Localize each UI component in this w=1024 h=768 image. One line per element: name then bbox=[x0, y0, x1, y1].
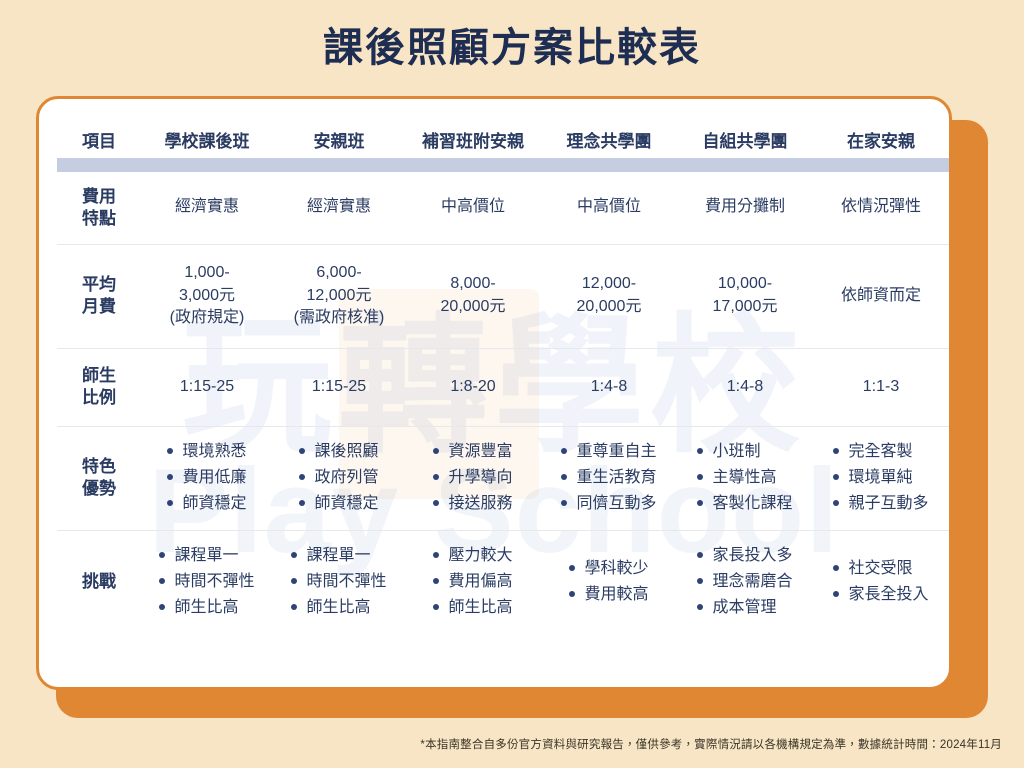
bullet-item: 理念需磨合 bbox=[697, 569, 792, 595]
table-cell: 6,000-12,000元(需政府核准) bbox=[273, 244, 405, 348]
bullet-item: 資源豐富 bbox=[433, 439, 512, 465]
row-header-5: 挑戰 bbox=[57, 530, 141, 634]
cell-line: 17,000元 bbox=[681, 296, 809, 319]
cell-line: 費用分攤制 bbox=[681, 196, 809, 219]
row-header-line: 比例 bbox=[61, 387, 137, 409]
bullet-item: 主導性高 bbox=[697, 465, 792, 491]
comparison-card: 玩轉學校 Play School 項目 學校課後班 安親班 補習班附安親 理念共… bbox=[36, 96, 988, 718]
bullet-list: 社交受限家長全投入 bbox=[833, 556, 928, 608]
table-cell: 中高價位 bbox=[541, 172, 677, 244]
table-cell: 家長投入多理念需磨合成本管理 bbox=[677, 530, 813, 634]
cell-line: 20,000元 bbox=[545, 296, 673, 319]
row-header-2: 平均月費 bbox=[57, 244, 141, 348]
bullet-list: 環境熟悉費用低廉師資穩定 bbox=[167, 439, 246, 517]
table-body: 費用特點經濟實惠經濟實惠中高價位中高價位費用分攤制依情況彈性平均月費1,000-… bbox=[57, 172, 949, 634]
bullet-item: 親子互動多 bbox=[833, 491, 928, 517]
bullet-item: 升學導向 bbox=[433, 465, 512, 491]
bullet-list: 學科較少費用較高 bbox=[569, 556, 648, 608]
cell-line: 依師資而定 bbox=[817, 285, 945, 308]
table-header-underline-cell bbox=[57, 158, 949, 172]
row-header-line: 平均 bbox=[61, 274, 137, 296]
bullet-item: 師生比高 bbox=[159, 595, 254, 621]
bullet-item: 環境熟悉 bbox=[167, 439, 246, 465]
cell-line: 10,000- bbox=[681, 273, 809, 296]
row-header-4: 特色優勢 bbox=[57, 426, 141, 530]
bullet-item: 師資穩定 bbox=[167, 491, 246, 517]
cell-line: 1:15-25 bbox=[277, 376, 401, 399]
bullet-list: 小班制主導性高客製化課程 bbox=[697, 439, 792, 517]
bullet-item: 壓力較大 bbox=[433, 543, 512, 569]
table-cell: 1:4-8 bbox=[677, 348, 813, 426]
table-cell: 環境熟悉費用低廉師資穩定 bbox=[141, 426, 273, 530]
table-cell: 1:8-20 bbox=[405, 348, 541, 426]
table-row: 挑戰課程單一時間不彈性師生比高課程單一時間不彈性師生比高壓力較大費用偏高師生比高… bbox=[57, 530, 949, 634]
cell-line: 12,000- bbox=[545, 273, 673, 296]
page-title: 課後照顧方案比較表 bbox=[0, 0, 1024, 62]
table-cell: 社交受限家長全投入 bbox=[813, 530, 949, 634]
column-header-cram-school: 補習班附安親 bbox=[405, 99, 541, 158]
cell-line: 1:8-20 bbox=[409, 376, 537, 399]
bullet-item: 家長全投入 bbox=[833, 582, 928, 608]
bullet-list: 課程單一時間不彈性師生比高 bbox=[159, 543, 254, 621]
column-header-self-organized-coop: 自組共學團 bbox=[677, 99, 813, 158]
cell-line: 中高價位 bbox=[545, 196, 673, 219]
bullet-list: 資源豐富升學導向接送服務 bbox=[433, 439, 512, 517]
table-cell: 1:4-8 bbox=[541, 348, 677, 426]
table-cell: 1:1-3 bbox=[813, 348, 949, 426]
table-cell: 1:15-25 bbox=[141, 348, 273, 426]
row-header-line: 月費 bbox=[61, 296, 137, 318]
bullet-item: 完全客製 bbox=[833, 439, 928, 465]
table-cell: 依師資而定 bbox=[813, 244, 949, 348]
cell-line: 20,000元 bbox=[409, 296, 537, 319]
table-area: 項目 學校課後班 安親班 補習班附安親 理念共學團 自組共學團 在家安親 bbox=[39, 99, 949, 634]
table-cell: 課程單一時間不彈性師生比高 bbox=[141, 530, 273, 634]
bullet-item: 師資穩定 bbox=[299, 491, 378, 517]
comparison-table: 項目 學校課後班 安親班 補習班附安親 理念共學團 自組共學團 在家安親 bbox=[57, 99, 949, 634]
column-header-concept-coop: 理念共學團 bbox=[541, 99, 677, 158]
bullet-item: 費用偏高 bbox=[433, 569, 512, 595]
cell-line: 3,000元 bbox=[145, 285, 269, 308]
cell-line: 1:1-3 bbox=[817, 376, 945, 399]
cell-line: 6,000- bbox=[277, 262, 401, 285]
bullet-item: 小班制 bbox=[697, 439, 792, 465]
table-cell: 8,000-20,000元 bbox=[405, 244, 541, 348]
column-header-school-afterclass: 學校課後班 bbox=[141, 99, 273, 158]
bullet-item: 費用低廉 bbox=[167, 465, 246, 491]
column-header-anqinban: 安親班 bbox=[273, 99, 405, 158]
table-cell: 依情況彈性 bbox=[813, 172, 949, 244]
cell-line: 1,000- bbox=[145, 262, 269, 285]
table-cell: 10,000-17,000元 bbox=[677, 244, 813, 348]
footnote: *本指南整合自多份官方資料與研究報告，僅供參考，實際情況請以各機構規定為準，數據… bbox=[420, 736, 1002, 752]
table-cell: 資源豐富升學導向接送服務 bbox=[405, 426, 541, 530]
bullet-item: 課程單一 bbox=[159, 543, 254, 569]
bullet-item: 費用較高 bbox=[569, 582, 648, 608]
bullet-item: 師生比高 bbox=[433, 595, 512, 621]
bullet-item: 時間不彈性 bbox=[159, 569, 254, 595]
cell-line: (政府規定) bbox=[145, 307, 269, 330]
cell-line: 經濟實惠 bbox=[145, 196, 269, 219]
bullet-item: 學科較少 bbox=[569, 556, 648, 582]
bullet-list: 重尊重自主重生活教育同儕互動多 bbox=[561, 439, 656, 517]
table-cell: 費用分攤制 bbox=[677, 172, 813, 244]
table-cell: 壓力較大費用偏高師生比高 bbox=[405, 530, 541, 634]
cell-line: 1:4-8 bbox=[545, 376, 673, 399]
bullet-list: 完全客製環境單純親子互動多 bbox=[833, 439, 928, 517]
table-cell: 經濟實惠 bbox=[141, 172, 273, 244]
cell-line: 12,000元 bbox=[277, 285, 401, 308]
cell-line: 依情況彈性 bbox=[817, 196, 945, 219]
table-cell: 課後照顧政府列管師資穩定 bbox=[273, 426, 405, 530]
column-header-home-care: 在家安親 bbox=[813, 99, 949, 158]
table-cell: 課程單一時間不彈性師生比高 bbox=[273, 530, 405, 634]
table-cell: 12,000-20,000元 bbox=[541, 244, 677, 348]
table-header-underline-row bbox=[57, 158, 949, 172]
bullet-list: 壓力較大費用偏高師生比高 bbox=[433, 543, 512, 621]
bullet-list: 課程單一時間不彈性師生比高 bbox=[291, 543, 386, 621]
bullet-item: 師生比高 bbox=[291, 595, 386, 621]
bullet-item: 重生活教育 bbox=[561, 465, 656, 491]
bullet-item: 課程單一 bbox=[291, 543, 386, 569]
cell-line: 1:15-25 bbox=[145, 376, 269, 399]
table-cell: 經濟實惠 bbox=[273, 172, 405, 244]
row-header-line: 師生 bbox=[61, 365, 137, 387]
table-cell: 完全客製環境單純親子互動多 bbox=[813, 426, 949, 530]
row-header-3: 師生比例 bbox=[57, 348, 141, 426]
table-row: 費用特點經濟實惠經濟實惠中高價位中高價位費用分攤制依情況彈性 bbox=[57, 172, 949, 244]
table-row: 特色優勢環境熟悉費用低廉師資穩定課後照顧政府列管師資穩定資源豐富升學導向接送服務… bbox=[57, 426, 949, 530]
bullet-item: 社交受限 bbox=[833, 556, 928, 582]
bullet-item: 客製化課程 bbox=[697, 491, 792, 517]
table-row: 平均月費1,000-3,000元(政府規定)6,000-12,000元(需政府核… bbox=[57, 244, 949, 348]
table-cell: 1:15-25 bbox=[273, 348, 405, 426]
bullet-list: 家長投入多理念需磨合成本管理 bbox=[697, 543, 792, 621]
table-cell: 1,000-3,000元(政府規定) bbox=[141, 244, 273, 348]
cell-line: 中高價位 bbox=[409, 196, 537, 219]
table-header: 項目 學校課後班 安親班 補習班附安親 理念共學團 自組共學團 在家安親 bbox=[57, 99, 949, 172]
table-cell: 小班制主導性高客製化課程 bbox=[677, 426, 813, 530]
bullet-list: 課後照顧政府列管師資穩定 bbox=[299, 439, 378, 517]
bullet-item: 接送服務 bbox=[433, 491, 512, 517]
table-header-row: 項目 學校課後班 安親班 補習班附安親 理念共學團 自組共學團 在家安親 bbox=[57, 99, 949, 158]
row-header-1: 費用特點 bbox=[57, 172, 141, 244]
bullet-item: 課後照顧 bbox=[299, 439, 378, 465]
table-row: 師生比例1:15-251:15-251:8-201:4-81:4-81:1-3 bbox=[57, 348, 949, 426]
cell-line: 8,000- bbox=[409, 273, 537, 296]
column-header-item: 項目 bbox=[57, 99, 141, 158]
row-header-line: 特點 bbox=[61, 208, 137, 230]
bullet-item: 時間不彈性 bbox=[291, 569, 386, 595]
row-header-line: 費用 bbox=[61, 186, 137, 208]
row-header-line: 特色 bbox=[61, 456, 137, 478]
bullet-item: 政府列管 bbox=[299, 465, 378, 491]
table-cell: 中高價位 bbox=[405, 172, 541, 244]
row-header-line: 優勢 bbox=[61, 478, 137, 500]
cell-line: (需政府核准) bbox=[277, 307, 401, 330]
table-cell: 重尊重自主重生活教育同儕互動多 bbox=[541, 426, 677, 530]
cell-line: 經濟實惠 bbox=[277, 196, 401, 219]
row-header-line: 挑戰 bbox=[61, 571, 137, 593]
bullet-item: 家長投入多 bbox=[697, 543, 792, 569]
table-cell: 學科較少費用較高 bbox=[541, 530, 677, 634]
bullet-item: 成本管理 bbox=[697, 595, 792, 621]
bullet-item: 環境單純 bbox=[833, 465, 928, 491]
bullet-item: 重尊重自主 bbox=[561, 439, 656, 465]
cell-line: 1:4-8 bbox=[681, 376, 809, 399]
header-accent-bar bbox=[57, 158, 949, 172]
card-surface: 玩轉學校 Play School 項目 學校課後班 安親班 補習班附安親 理念共… bbox=[36, 96, 952, 690]
bullet-item: 同儕互動多 bbox=[561, 491, 656, 517]
